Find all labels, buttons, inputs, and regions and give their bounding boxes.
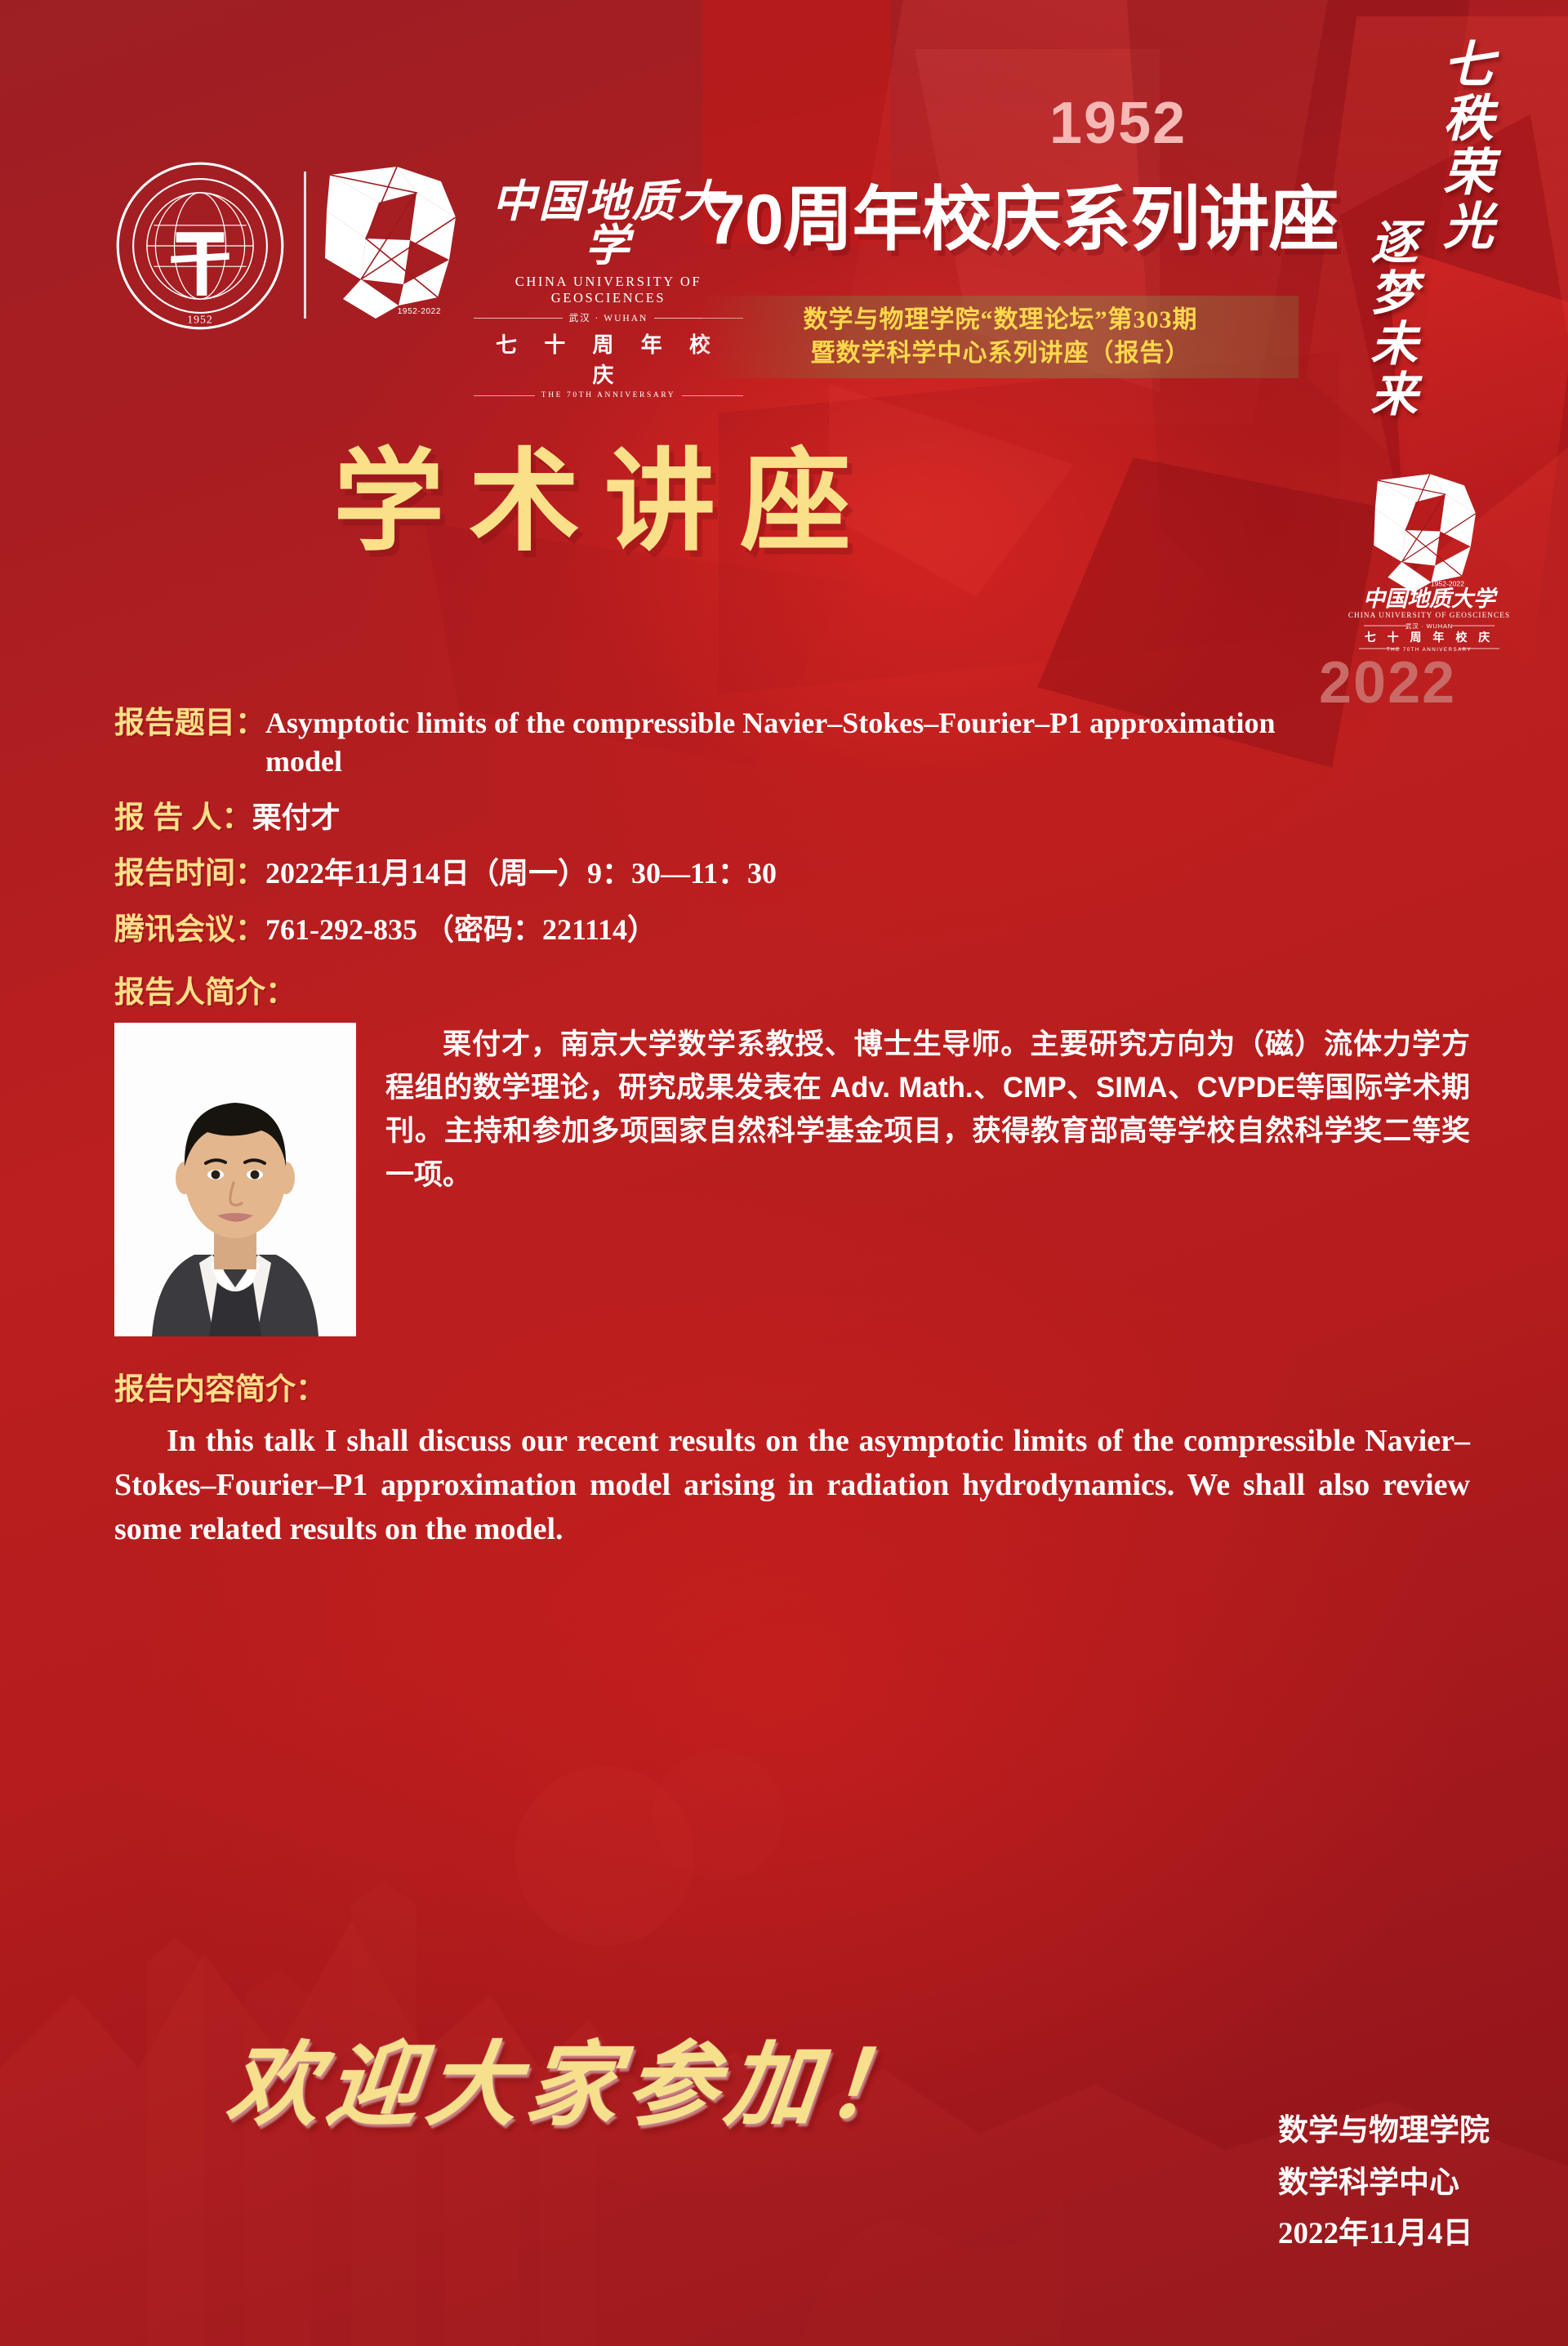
vertical-slogan-1: 七秩荣光 [1437,38,1488,253]
lecture-info: 报告题目： Asymptotic limits of the compressi… [114,704,1470,1552]
anniversary-en-line: THE 70TH ANNIVERSARY [474,391,743,399]
anniversary-70-logo-secondary: 1952-2022 中国地质大学 CHINA UNIVERSITY OF GEO… [1331,466,1527,653]
abstract-text: In this talk I shall discuss our recent … [114,1420,1470,1552]
speaker-value: 栗付才 [252,799,341,837]
speaker-bio-block: 栗付才，南京大学数学系教授、博士生导师。主要研究方向为（磁）流体力学方程组的数学… [114,1023,1470,1336]
speaker-bio-text: 栗付才，南京大学数学系教授、博士生导师。主要研究方向为（磁）流体力学方程组的数学… [385,1023,1470,1197]
anniversary-years: 1952-2022 [398,307,441,316]
info-row-title: 报告题目： Asymptotic limits of the compressi… [114,704,1470,781]
welcome-message: 欢迎大家参加！ [221,2011,933,2143]
anniversary-cn-small: 七 十 周 年 校 庆 [1365,631,1494,644]
university-name-cn: 中国地质大学 [474,180,743,268]
anniversary-banner-title: 70周年校庆系列讲座 [706,185,1339,255]
talk-title-value: Asymptotic limits of the compressible Na… [265,704,1319,781]
time-label: 报告时间： [114,854,265,892]
info-row-meeting: 腾讯会议： 761-292-835 （密码：221114） [114,911,1470,949]
vertical-slogan-2: 逐梦未来 [1365,217,1413,420]
speaker-photo-frame [114,1023,356,1336]
anniversary-en: THE 70TH ANNIVERSARY [541,391,675,399]
poster-footer: 数学与物理学院 数学科学中心 2022年11月4日 [1278,2104,1490,2260]
university-name-cn-small: 中国地质大学 [1363,586,1499,611]
speaker-label: 报 告 人： [114,799,252,836]
talk-title-label: 报告题目： [114,704,265,742]
abstract-block: 报告内容简介： In this talk I shall discuss our… [114,1364,1470,1552]
info-row-speaker: 报 告 人： 栗付才 [114,799,1470,837]
university-city-small: 武汉 · WUHAN [1405,622,1453,630]
time-value: 2022年11月14日（周一）9：30—11：30 [265,854,777,893]
footer-org-2: 数学科学中心 [1278,2156,1490,2209]
university-city: 武汉 · WUHAN [569,311,648,324]
subtitle-line-2: 暨数学科学中心系列讲座（报告） [715,337,1285,370]
subtitle-line-1: 数学与物理学院“数理论坛”第303期 [715,303,1285,337]
university-seal-logo: 1952 [114,160,286,332]
lecture-poster: 1952 1952-2022 中国地质大学 CHINA UNIVERSITY O… [0,0,1568,2346]
logo-divider [304,172,306,319]
speaker-portrait-photo [114,1023,356,1336]
footer-date: 2022年11月4日 [1278,2208,1490,2260]
info-row-time: 报告时间： 2022年11月14日（周一）9：30—11：30 [114,854,1470,893]
meeting-label: 腾讯会议： [114,911,265,948]
anniversary-70-mark-icon: 1952-2022 [318,160,470,323]
subtitle-box: 数学与物理学院“数理论坛”第303期 暨数学科学中心系列讲座（报告） [702,296,1298,378]
university-name-en-small: CHINA UNIVERSITY OF GEOSCIENCES [1348,611,1510,619]
footer-org-1: 数学与物理学院 [1278,2104,1490,2156]
svg-text:1952: 1952 [187,314,212,326]
speaker-bio-section-title: 报告人简介： [114,967,1470,1011]
page-title: 学术讲座 [333,446,875,557]
year-1952: 1952 [1049,94,1187,153]
meeting-value: 761-292-835 （密码：221114） [265,911,657,949]
abstract-section-title: 报告内容简介： [114,1364,1470,1408]
